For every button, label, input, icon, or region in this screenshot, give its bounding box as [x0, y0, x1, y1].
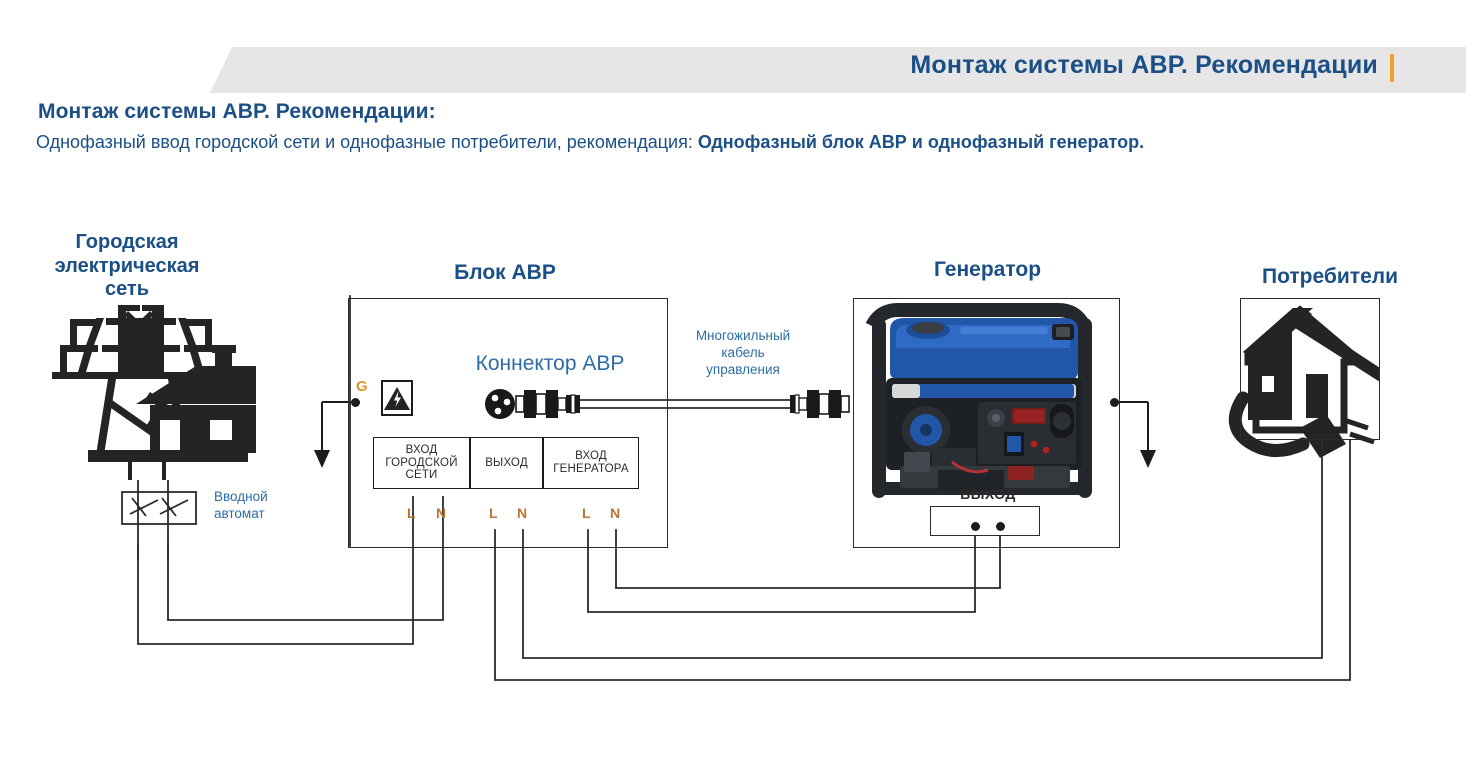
pin-label-output-n: N: [517, 505, 527, 521]
pin-label-gen-n: N: [610, 505, 620, 521]
intro-body: Однофазный ввод городской сети и однофаз…: [36, 130, 1376, 156]
input-breaker-note-line1: Вводной: [214, 489, 324, 506]
pin-label-city-l: L: [407, 505, 416, 521]
slide-root: Монтаж системы АВР. Рекомендации Монтаж …: [0, 0, 1466, 780]
ground-arrow-generator: [1114, 402, 1156, 468]
consumers-label: Потребители: [1215, 265, 1445, 290]
consumers-block-outline: [1240, 298, 1380, 440]
input-breaker-symbol: [122, 480, 196, 560]
power-pylon-house-icon: [52, 305, 338, 480]
intro-heading: Монтаж системы АВР. Рекомендации:: [38, 100, 1436, 124]
ground-terminal-label: G: [356, 378, 368, 395]
generator-output-terminal-n: [996, 522, 1005, 531]
pin-label-city-n: N: [436, 505, 446, 521]
intro-body-prefix: Однофазный ввод городской сети и однофаз…: [36, 132, 698, 152]
pin-label-gen-l: L: [582, 505, 591, 521]
terminal-box-generator-input: ВХОД ГЕНЕРАТОРА: [543, 437, 639, 489]
control-cable-note: Многожильный кабель управления: [668, 328, 818, 379]
generator-output-box: [930, 506, 1040, 536]
grid-label-line2: электрическая: [12, 255, 242, 279]
terminal-box-output: ВЫХОД: [470, 437, 543, 489]
ats-connector-label: Коннектор АВР: [440, 352, 660, 376]
ats-block-label: Блок АВР: [400, 261, 610, 286]
generator-label: Генератор: [880, 258, 1095, 283]
terminal-label-city-input: ВХОД ГОРОДСКОЙ СЕТИ: [374, 444, 469, 483]
grid-label-line3: сеть: [12, 278, 242, 302]
terminal-box-city-input: ВХОД ГОРОДСКОЙ СЕТИ: [373, 437, 470, 489]
input-breaker-note: Вводной автомат: [214, 489, 324, 523]
input-breaker-note-line2: автомат: [214, 506, 324, 523]
terminal-label-output: ВЫХОД: [485, 457, 528, 470]
intro-body-emphasis: Однофазный блок АВР и однофазный генерат…: [698, 132, 1144, 152]
pin-label-output-l: L: [489, 505, 498, 521]
grid-label-line1: Городская: [12, 231, 242, 255]
control-cable-note-line3: управления: [668, 362, 818, 379]
intro-block: Монтаж системы АВР. Рекомендации: Однофа…: [36, 100, 1436, 156]
generator-output-label: ВЫХОД: [918, 486, 1058, 502]
control-cable-note-line2: кабель: [668, 345, 818, 362]
generator-output-terminal-l: [971, 522, 980, 531]
terminal-label-generator-input: ВХОД ГЕНЕРАТОРА: [544, 450, 638, 476]
grid-label: Городская электрическая сеть: [12, 231, 242, 302]
ground-node-dot: [351, 398, 360, 407]
control-cable-note-line1: Многожильный: [668, 328, 818, 345]
header-title: Монтаж системы АВР. Рекомендации: [910, 51, 1378, 80]
header-accent-bar: [1390, 54, 1394, 82]
generator-cable-connector-icon: [790, 390, 849, 418]
